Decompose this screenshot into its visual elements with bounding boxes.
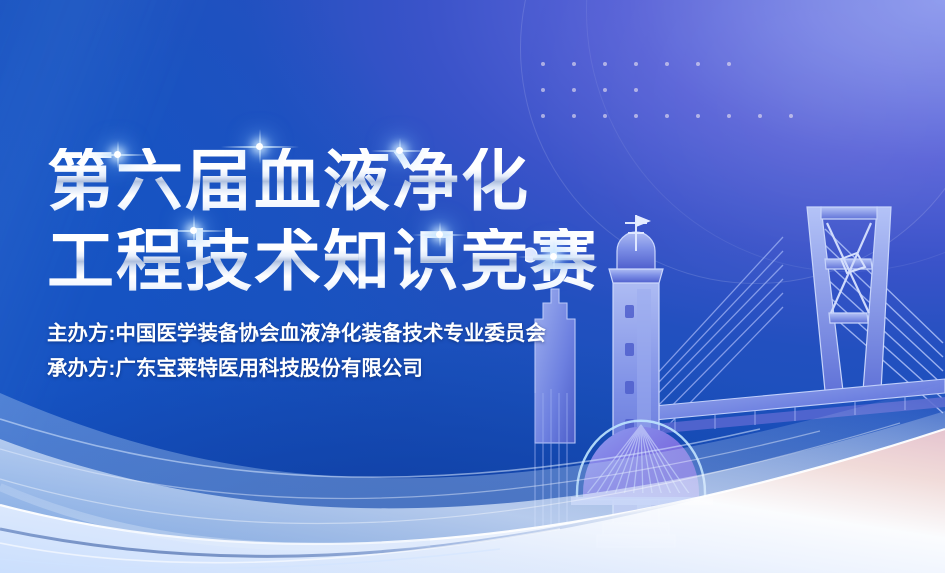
grid-dot [572, 114, 576, 118]
title-line-2-text: 工程技术知识竞赛 [47, 228, 599, 295]
grid-dot [665, 62, 669, 66]
grid-dot [696, 114, 700, 118]
grid-dot [541, 62, 545, 66]
grid-dot [634, 88, 638, 92]
banner-text-block: 第六届血液净化 第六届血液净化 工程技术知识竞赛 工程技术知识竞赛 主办方:中国… [47, 148, 599, 379]
host-line: 承办方:广东宝莱特医用科技股份有限公司 [47, 359, 599, 380]
grid-dot [634, 114, 638, 118]
grid-dot [603, 88, 607, 92]
grid-dot [727, 62, 731, 66]
title-line-2: 工程技术知识竞赛 工程技术知识竞赛 [47, 228, 599, 304]
grid-dot [541, 88, 545, 92]
grid-dot [696, 62, 700, 66]
grid-dot [727, 114, 731, 118]
grid-dot [603, 114, 607, 118]
title-line-1-text: 第六届血液净化 [47, 148, 599, 215]
grid-dot [541, 114, 545, 118]
grid-dot [572, 62, 576, 66]
event-banner: 第六届血液净化 第六届血液净化 工程技术知识竞赛 工程技术知识竞赛 主办方:中国… [0, 0, 945, 573]
grid-dot [665, 114, 669, 118]
grid-dot [603, 62, 607, 66]
grid-dot [789, 114, 793, 118]
title-line-1: 第六届血液净化 第六届血液净化 [47, 148, 599, 224]
grid-dot [758, 114, 762, 118]
grid-dot [634, 62, 638, 66]
organizer-line: 主办方:中国医学装备协会血液净化装备技术专业委员会 [47, 324, 599, 345]
grid-dot [572, 88, 576, 92]
